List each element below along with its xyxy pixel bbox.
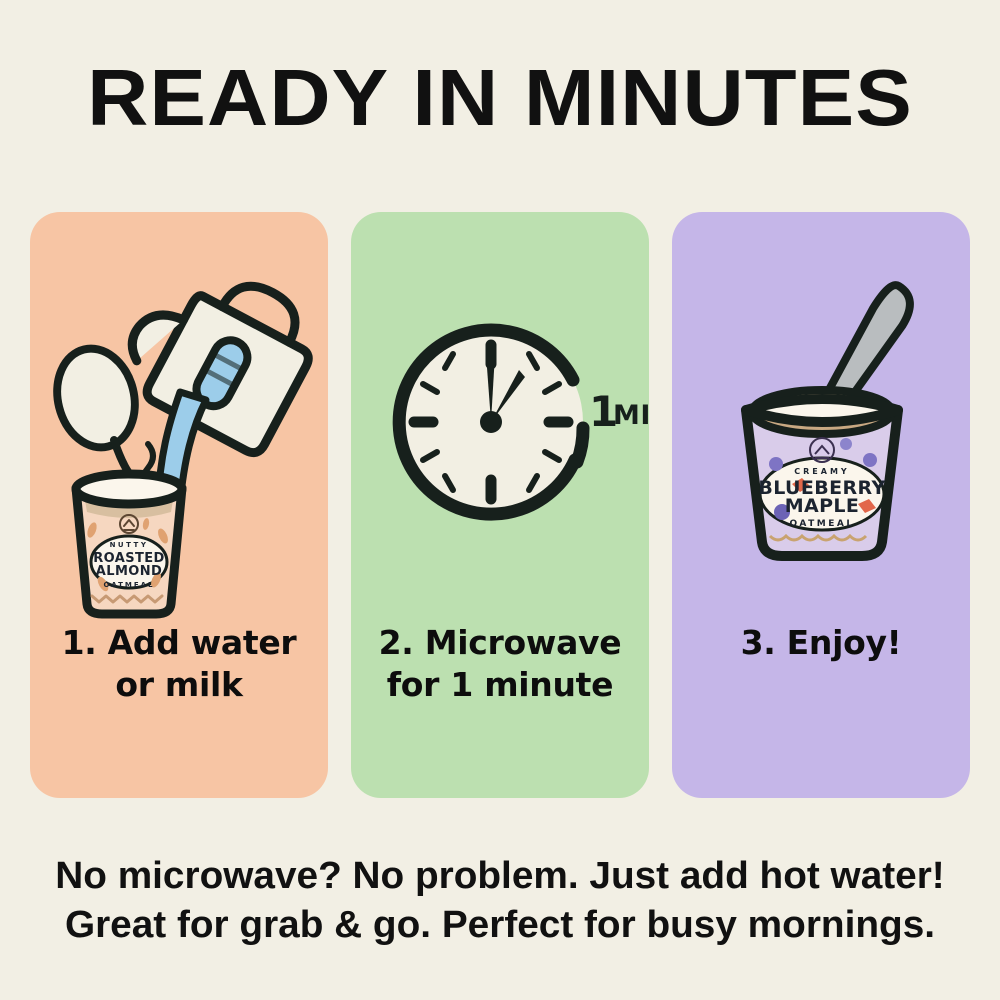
footer-note: No microwave? No problem. Just add hot w… xyxy=(0,852,1000,949)
footer-line-2: Great for grab & go. Perfect for busy mo… xyxy=(0,901,1000,950)
svg-text:OATMEAL: OATMEAL xyxy=(103,581,154,589)
step-caption-2: 2. Microwave for 1 minute xyxy=(351,622,649,706)
step-card-2[interactable]: 1 MIN 2. Microwave for 1 minute xyxy=(351,212,649,798)
kettle-pouring-into-oatmeal-cup-icon: NUTTY ROASTED ALMOND OATMEAL xyxy=(30,212,328,632)
step-caption-1: 1. Add water or milk xyxy=(30,622,328,706)
steps-row: NUTTY ROASTED ALMOND OATMEAL 1. Add wate… xyxy=(30,212,970,798)
clock-one-minute-icon: 1 MIN xyxy=(351,212,649,632)
svg-text:NUTTY: NUTTY xyxy=(110,541,149,549)
step-card-3[interactable]: CREAMY BLUEBERRY MAPLE OATMEAL 3. Enjoy! xyxy=(672,212,970,798)
footer-line-1: No microwave? No problem. Just add hot w… xyxy=(0,852,1000,901)
poster-canvas: READY IN MINUTES xyxy=(0,0,1000,1000)
step-caption-3: 3. Enjoy! xyxy=(672,622,970,664)
svg-text:MAPLE: MAPLE xyxy=(785,495,860,517)
svg-text:OATMEAL: OATMEAL xyxy=(789,519,854,529)
clock-badge-unit: MIN xyxy=(613,400,649,431)
blueberry-maple-oatmeal-cup-with-spoon-icon: CREAMY BLUEBERRY MAPLE OATMEAL xyxy=(672,212,970,632)
svg-text:ALMOND: ALMOND xyxy=(96,564,162,579)
svg-text:CREAMY: CREAMY xyxy=(794,467,849,476)
page-title: READY IN MINUTES xyxy=(0,58,1000,138)
step-card-1[interactable]: NUTTY ROASTED ALMOND OATMEAL 1. Add wate… xyxy=(30,212,328,798)
